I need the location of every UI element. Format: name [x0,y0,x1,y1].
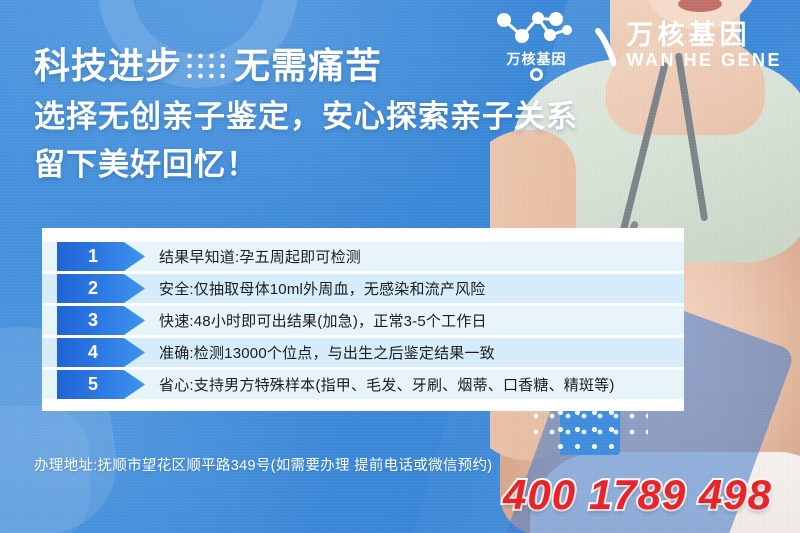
feature-row: 3 快速:48小时即可出结果(加急)，正常3-5个工作日 [42,306,684,335]
headline-line-1-part-b: 无需痛苦 [234,42,382,90]
office-address: 办理地址:抚顺市望花区顺平路349号(如需要办理 提前电话或微信预约) [34,454,492,475]
feature-text: 省心:支持男方特殊样本(指甲、毛发、牙刷、烟蒂、口香糖、精斑等) [145,370,684,399]
headline-line-3: 留下美好回忆！ [34,144,674,186]
feature-number-badge: 4 [57,338,145,367]
feature-row: 4 准确:检测13000个位点，与出生之后鉴定结果一致 [42,338,684,367]
feature-text: 准确:检测13000个位点，与出生之后鉴定结果一致 [145,338,684,367]
feature-row: 5 省心:支持男方特殊样本(指甲、毛发、牙刷、烟蒂、口香糖、精斑等) [42,370,684,399]
molecule-node-icon [488,8,584,54]
brand-logo: 万核基因 万核基因 WAN HE GENE [488,8,782,84]
feature-text: 安全:仅抽取母体10ml外周血，无感染和流产风险 [145,274,684,303]
brand-name-cn: 万核基因 [626,21,782,49]
feature-row: 2 安全:仅抽取母体10ml外周血，无感染和流产风险 [42,274,684,303]
brand-name-en: WAN HE GENE [626,50,782,71]
feature-number-badge: 2 [57,274,145,303]
logo-mark-label: 万核基因 [488,49,584,69]
headline-line-1-part-a: 科技进步 [34,42,182,90]
logo-mark-circle-icon [530,68,543,81]
feature-number-badge: 3 [57,306,145,335]
feature-text: 结果早知道:孕五周起即可检测 [145,242,684,271]
feature-row: 1 结果早知道:孕五周起即可检测 [42,242,684,271]
feature-list-card: 1 结果早知道:孕五周起即可检测 2 安全:仅抽取母体10ml外周血，无感染和流… [42,228,684,411]
contact-phone-number[interactable]: 400 1789 498 [503,471,772,519]
headline-line-2: 选择无创亲子鉴定，安心探索亲子关系 [34,96,674,138]
logo-text: 万核基因 WAN HE GENE [626,21,782,71]
feature-number-badge: 1 [57,242,145,271]
logo-mark: 万核基因 [488,8,584,84]
logo-swoosh-icon [594,23,616,69]
promo-banner: 万核基因 万核基因 WAN HE GENE 科技进步 无需痛苦 选择无创亲子鉴定… [0,0,800,533]
feature-text: 快速:48小时即可出结果(加急)，正常3-5个工作日 [145,306,684,335]
feature-number-badge: 5 [57,370,145,399]
dot-matrix-decoration-icon [184,51,230,81]
